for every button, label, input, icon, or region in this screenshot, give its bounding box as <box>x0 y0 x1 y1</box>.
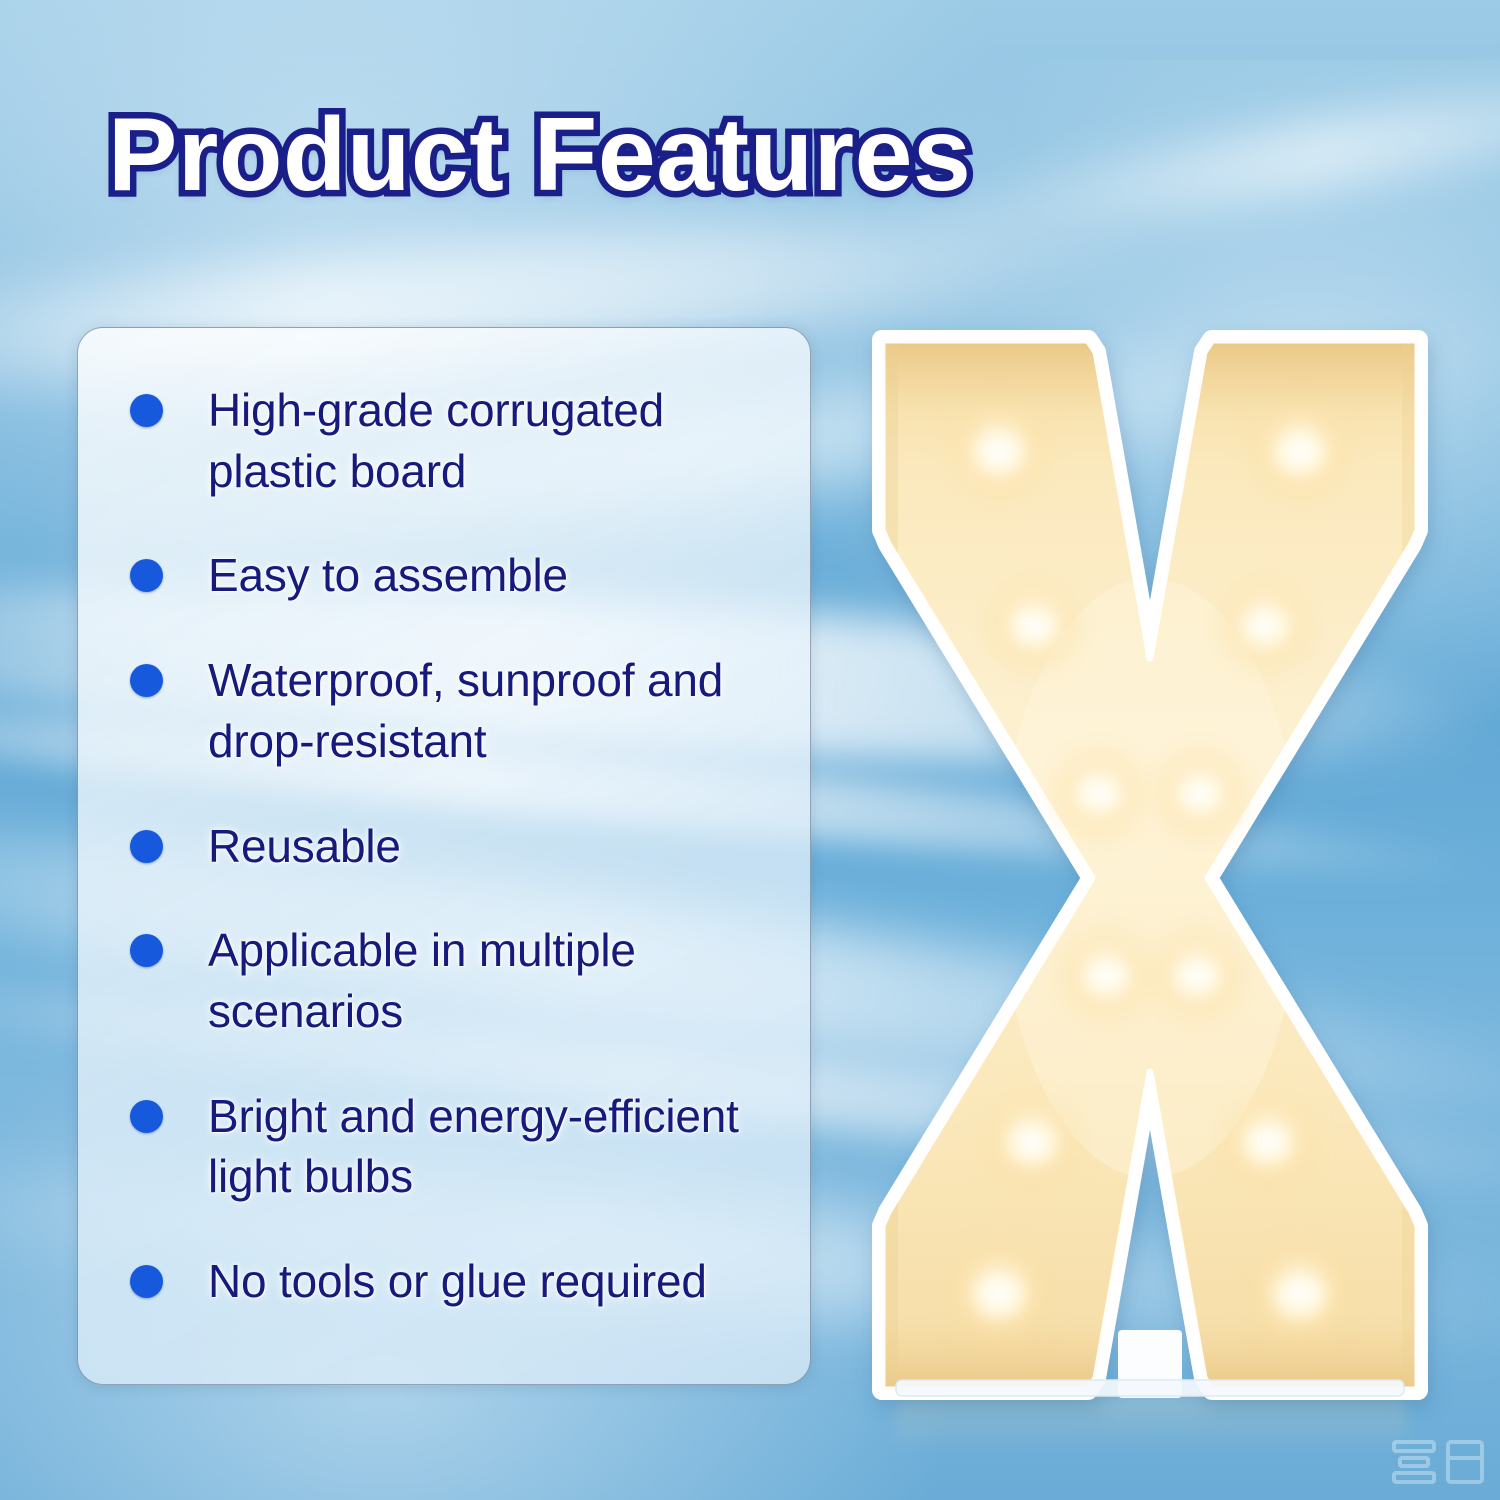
led-bulb <box>1256 1252 1344 1340</box>
led-bulb <box>1155 936 1239 1020</box>
led-bulb <box>1256 410 1344 498</box>
led-bulb <box>1158 754 1242 838</box>
feature-card: High-grade corrugated plastic board Easy… <box>77 327 811 1385</box>
led-bulb <box>990 1102 1074 1186</box>
feature-label: Easy to assemble <box>208 545 568 606</box>
marquee-letter-x-product <box>856 318 1444 1438</box>
bullet-dot-icon <box>130 934 163 967</box>
brand-watermark <box>1390 1428 1486 1490</box>
led-bulb <box>992 586 1076 670</box>
led-bulb <box>1064 936 1148 1020</box>
feature-label: Applicable in multiple scenarios <box>208 920 783 1041</box>
feature-label: High-grade corrugated plastic board <box>208 380 783 501</box>
feature-label: Waterproof, sunproof and drop-resistant <box>208 650 783 771</box>
bullet-dot-icon <box>130 559 163 592</box>
bullet-dot-icon <box>130 664 163 697</box>
list-item: Easy to assemble <box>130 545 784 606</box>
list-item: Waterproof, sunproof and drop-resistant <box>130 650 784 771</box>
bullet-dot-icon <box>130 1265 163 1298</box>
led-bulb <box>1226 1102 1310 1186</box>
bullet-dot-icon <box>130 830 163 863</box>
list-item: Bright and energy-efficient light bulbs <box>130 1086 784 1207</box>
bullet-dot-icon <box>130 1100 163 1133</box>
letter-face <box>856 340 1444 1392</box>
page-title: Product Features <box>108 96 971 215</box>
led-bulb <box>955 410 1043 498</box>
list-item: Applicable in multiple scenarios <box>130 920 784 1041</box>
bullet-dot-icon <box>130 394 163 427</box>
feature-label: Reusable <box>208 816 401 877</box>
led-bulb <box>1223 586 1307 670</box>
list-item: No tools or glue required <box>130 1251 784 1312</box>
led-bulb <box>955 1252 1043 1340</box>
led-bulb <box>1057 754 1141 838</box>
feature-list: High-grade corrugated plastic board Easy… <box>130 380 784 1312</box>
list-item: High-grade corrugated plastic board <box>130 380 784 501</box>
feature-label: No tools or glue required <box>208 1251 707 1312</box>
letter-reflection <box>896 1396 1406 1452</box>
feature-label: Bright and energy-efficient light bulbs <box>208 1086 783 1207</box>
list-item: Reusable <box>130 816 784 877</box>
